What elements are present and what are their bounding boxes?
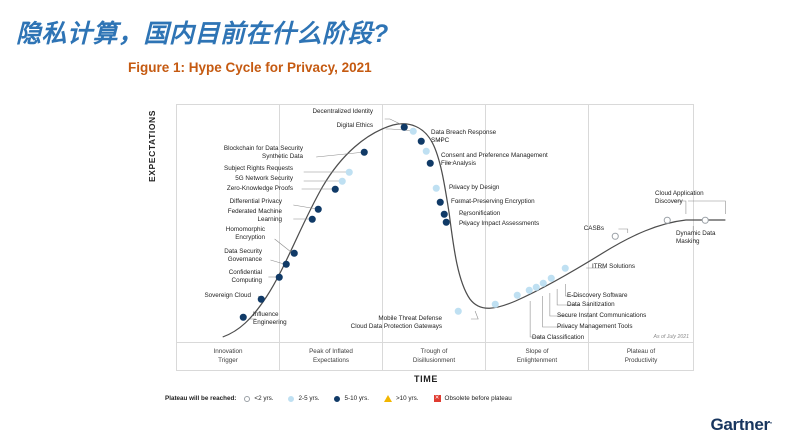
data-point-label-line1: ITRM Solutions [592, 263, 635, 271]
data-point-label-line2: Computing [229, 277, 262, 285]
data-point-label: Data Breach ResponseSMPC [431, 129, 496, 145]
data-point [455, 308, 462, 315]
data-point-label-line2: SMPC [431, 137, 496, 145]
data-point-label: Differential Privacy [230, 198, 282, 206]
data-point-label: Privacy by Design [449, 184, 499, 192]
legend-label: Obsolete before plateau [445, 395, 512, 402]
data-point [437, 199, 444, 206]
data-point [418, 138, 425, 145]
chart-legend: Plateau will be reached: <2 yrs. 2-5 yrs… [165, 395, 527, 402]
data-point-label-line2: Encryption [226, 234, 265, 242]
x-axis-label: TIME [157, 374, 695, 384]
data-point-label: Data SecurityGovernance [224, 248, 262, 264]
data-point-label-line1: Decentralized Identity [312, 108, 373, 116]
legend-item-lt2yrs: <2 yrs. [244, 395, 273, 402]
filled-circle-icon [334, 396, 340, 402]
data-point-label-line2: Masking [676, 238, 716, 246]
data-point [401, 124, 408, 131]
data-point-label-line1: Secure Instant Communications [557, 312, 646, 320]
legend-item-obsolete: ✕ Obsolete before plateau [434, 395, 512, 402]
data-point-label-line1: Data Sanitization [567, 301, 615, 309]
phase-label-innovation-trigger: Innovation Trigger [177, 347, 279, 366]
data-point-label-line2: Cloud Data Protection Gateways [351, 323, 442, 331]
phase-label-line1: Slope of [486, 347, 588, 356]
legend-label: 5-10 yrs. [344, 395, 369, 402]
phase-label-line1: Innovation [177, 347, 279, 356]
data-point-label: Privacy Management Tools [557, 323, 632, 331]
data-point-label: Decentralized Identity [312, 108, 373, 116]
data-point [332, 186, 339, 193]
data-point-label: InfluenceEngineering [253, 311, 287, 327]
data-point-label-line1: Format-Preserving Encryption [451, 198, 535, 206]
legend-label: >10 yrs. [396, 395, 419, 402]
data-point [240, 314, 247, 321]
data-point-label: Digital Ethics [337, 122, 373, 130]
phase-label-line2: Enlightenment [486, 356, 588, 365]
data-point-label: HomomorphicEncryption [226, 226, 265, 242]
data-point [540, 280, 547, 287]
legend-item-5to10yrs: 5-10 yrs. [334, 395, 369, 402]
data-point [427, 160, 434, 167]
open-circle-icon [244, 396, 250, 402]
gartner-wordmark: Gartner [710, 415, 769, 434]
data-point [346, 169, 353, 176]
data-point [276, 274, 283, 281]
phase-band: Innovation Trigger Peak of Inflated Expe… [176, 343, 694, 371]
data-point-label-line1: Subject Rights Requests [224, 165, 293, 173]
data-point [514, 292, 521, 299]
data-point-label: Data Classification [532, 334, 584, 342]
data-point [443, 219, 450, 226]
y-axis-label: EXPECTATIONS [147, 110, 157, 182]
phase-label-line2: Disillusionment [383, 356, 485, 365]
data-point-label-line1: Data Security [224, 248, 262, 256]
data-point-label: Secure Instant Communications [557, 312, 646, 320]
data-point-label: Dynamic DataMasking [676, 230, 716, 246]
legend-item-gt10yrs: >10 yrs. [384, 395, 419, 402]
data-point-label-line1: Blockchain for Data Security [224, 145, 303, 153]
data-point [492, 301, 499, 308]
data-point [309, 216, 316, 223]
data-point-label-line1: Mobile Threat Defense [351, 315, 442, 323]
triangle-icon [384, 395, 392, 402]
data-point-label-line2: Governance [224, 256, 262, 264]
data-point-label-line1: Data Breach Response [431, 129, 496, 137]
data-point-label: Federated MachineLearning [228, 208, 282, 224]
data-point-label-line1: Cloud Application [655, 190, 704, 198]
data-point [291, 250, 298, 257]
page-title: 隐私计算，国内目前在什么阶段? [16, 14, 389, 50]
data-point-label: Format-Preserving Encryption [451, 198, 535, 206]
data-point-label-line1: Federated Machine [228, 208, 282, 216]
legend-title: Plateau will be reached: [165, 395, 236, 402]
data-point-label: 5G Network Security [235, 175, 293, 183]
data-point [548, 275, 555, 282]
data-point-label: Cloud ApplicationDiscovery [655, 190, 704, 206]
data-point [533, 284, 540, 291]
data-point-label-line1: E-Discovery Software [567, 292, 628, 300]
data-point-label-line1: Dynamic Data [676, 230, 716, 238]
data-point-label: Mobile Threat DefenseCloud Data Protecti… [351, 315, 442, 331]
data-point-label-line1: Confidential [229, 269, 262, 277]
gartner-mark: . [770, 415, 772, 425]
data-point-label-line1: Zero-Knowledge Proofs [227, 185, 293, 193]
legend-label: <2 yrs. [254, 395, 273, 402]
data-point [315, 206, 322, 213]
data-point-label-line1: Differential Privacy [230, 198, 282, 206]
data-point-label: Subject Rights Requests [224, 165, 293, 173]
data-point-label: CASBs [584, 225, 604, 233]
data-point [423, 148, 430, 155]
data-point [361, 149, 368, 156]
phase-label-line1: Peak of Inflated [280, 347, 382, 356]
data-point-label: ConfidentialComputing [229, 269, 262, 285]
data-point-label: Consent and Preference ManagementFile An… [441, 152, 548, 168]
data-point-label-line2: Learning [228, 216, 282, 224]
as-of-note: As of July 2021 [654, 334, 689, 340]
data-point-label: Personification [459, 210, 500, 218]
phase-label-line2: Expectations [280, 356, 382, 365]
data-point [410, 128, 417, 135]
phase-label-line1: Plateau of [589, 347, 693, 356]
data-point-label-line1: Homomorphic [226, 226, 265, 234]
data-point-label-line1: Data Classification [532, 334, 584, 342]
phase-label-plateau-of-productivity: Plateau of Productivity [589, 347, 693, 366]
data-point-label-line1: CASBs [584, 225, 604, 233]
data-point-label-line1: Personification [459, 210, 500, 218]
data-point-label-line2: File Analysis [441, 160, 548, 168]
data-point-label-line2: Engineering [253, 319, 287, 327]
filled-circle-icon [288, 396, 294, 402]
data-point-label-line1: Privacy by Design [449, 184, 499, 192]
legend-label: 2-5 yrs. [298, 395, 319, 402]
data-point [562, 265, 569, 272]
data-point [441, 211, 448, 218]
data-point [664, 217, 671, 224]
phase-label-slope-of-enlightenment: Slope of Enlightenment [486, 347, 588, 366]
data-point [433, 185, 440, 192]
phase-label-trough-of-disillusionment: Trough of Disillusionment [383, 347, 485, 366]
data-point-label-line2: Synthetic Data [224, 153, 303, 161]
data-point [283, 261, 290, 268]
phase-label-line2: Productivity [589, 356, 693, 365]
data-point [612, 233, 619, 240]
data-point-label-line2: Discovery [655, 198, 704, 206]
data-point-label-line1: 5G Network Security [235, 175, 293, 183]
data-point-label: E-Discovery Software [567, 292, 628, 300]
data-point-label: Privacy Impact Assessments [459, 220, 539, 228]
hype-cycle-chart: EXPECTATIONS [157, 104, 695, 392]
data-point-label: Data Sanitization [567, 301, 615, 309]
x-mark-icon: ✕ [434, 395, 441, 402]
data-point [702, 217, 709, 224]
data-point-label-line1: Digital Ethics [337, 122, 373, 130]
figure-title: Figure 1: Hype Cycle for Privacy, 2021 [128, 60, 372, 75]
data-point-label-line1: Privacy Impact Assessments [459, 220, 539, 228]
data-point-label-line1: Influence [253, 311, 287, 319]
data-point-label-line1: Sovereign Cloud [204, 292, 251, 300]
phase-label-line2: Trigger [177, 356, 279, 365]
chart-plot-area: InfluenceEngineeringSovereign CloudConfi… [176, 104, 694, 343]
data-point-label-line1: Consent and Preference Management [441, 152, 548, 160]
data-point-label: Zero-Knowledge Proofs [227, 185, 293, 193]
data-point [258, 296, 265, 303]
gartner-logo: Gartner. [710, 415, 772, 435]
legend-item-2to5yrs: 2-5 yrs. [288, 395, 319, 402]
data-point-label: ITRM Solutions [592, 263, 635, 271]
phase-label-peak-of-inflated-expectations: Peak of Inflated Expectations [280, 347, 382, 366]
data-point-label: Sovereign Cloud [204, 292, 251, 300]
phase-label-line1: Trough of [383, 347, 485, 356]
data-point-label-line1: Privacy Management Tools [557, 323, 632, 331]
data-point [339, 178, 346, 185]
data-point-label: Blockchain for Data SecuritySynthetic Da… [224, 145, 303, 161]
data-point [526, 287, 533, 294]
